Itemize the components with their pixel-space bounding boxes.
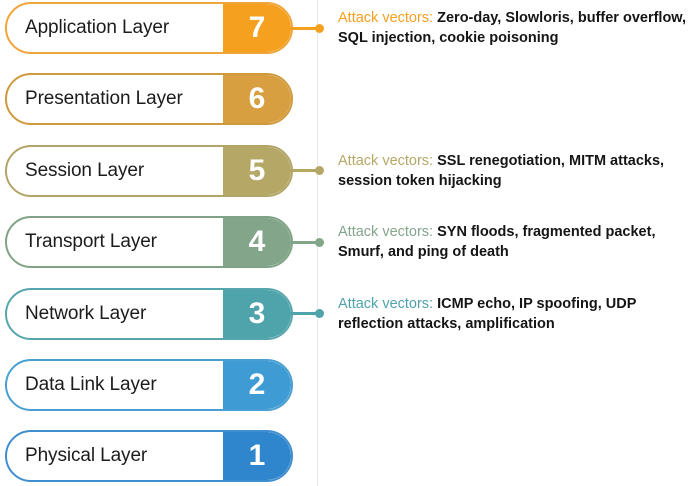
layer-number-block-5: 5 <box>223 147 291 195</box>
connector-dot-5 <box>315 166 324 175</box>
connector-dot-4 <box>315 238 324 247</box>
annotation-label-4: Attack vectors: <box>338 224 433 240</box>
layer-pill-3[interactable]: Network Layer3 <box>5 288 293 340</box>
layer-pill-2[interactable]: Data Link Layer2 <box>5 359 293 411</box>
layer-number-7: 7 <box>223 4 291 52</box>
layer-label-6: Presentation Layer <box>25 75 183 123</box>
layer-number-block-7: 7 <box>223 4 291 52</box>
layer-number-block-1: 1 <box>223 432 291 480</box>
layer-label-3: Network Layer <box>25 290 146 338</box>
layer-number-6: 6 <box>223 75 291 123</box>
layer-pill-6[interactable]: Presentation Layer6 <box>5 73 293 125</box>
layer-label-5: Session Layer <box>25 147 144 195</box>
layer-number-3: 3 <box>223 290 291 338</box>
layer-number-block-6: 6 <box>223 75 291 123</box>
layer-pill-1[interactable]: Physical Layer1 <box>5 430 293 482</box>
annotation-layer-7: Attack vectors: Zero-day, Slowloris, buf… <box>338 8 690 48</box>
annotation-label-7: Attack vectors: <box>338 10 433 26</box>
layer-number-block-3: 3 <box>223 290 291 338</box>
layer-number-block-2: 2 <box>223 361 291 409</box>
layer-pill-5[interactable]: Session Layer5 <box>5 145 293 197</box>
layer-label-2: Data Link Layer <box>25 361 157 409</box>
osi-layer-diagram: Application Layer7Presentation Layer6Ses… <box>0 0 694 486</box>
layer-label-1: Physical Layer <box>25 432 147 480</box>
annotation-layer-4: Attack vectors: SYN floods, fragmented p… <box>338 222 690 262</box>
layer-pill-4[interactable]: Transport Layer4 <box>5 216 293 268</box>
layer-number-1: 1 <box>223 432 291 480</box>
annotation-layer-5: Attack vectors: SSL renegotiation, MITM … <box>338 151 690 191</box>
layer-pill-7[interactable]: Application Layer7 <box>5 2 293 54</box>
annotation-layer-3: Attack vectors: ICMP echo, IP spoofing, … <box>338 294 690 334</box>
layer-number-4: 4 <box>223 218 291 266</box>
layer-number-block-4: 4 <box>223 218 291 266</box>
annotation-label-3: Attack vectors: <box>338 296 433 312</box>
connector-dot-3 <box>315 309 324 318</box>
layer-label-4: Transport Layer <box>25 218 157 266</box>
layer-number-2: 2 <box>223 361 291 409</box>
layer-label-7: Application Layer <box>25 4 169 52</box>
connector-dot-7 <box>315 24 324 33</box>
annotation-label-5: Attack vectors: <box>338 153 433 169</box>
layer-number-5: 5 <box>223 147 291 195</box>
